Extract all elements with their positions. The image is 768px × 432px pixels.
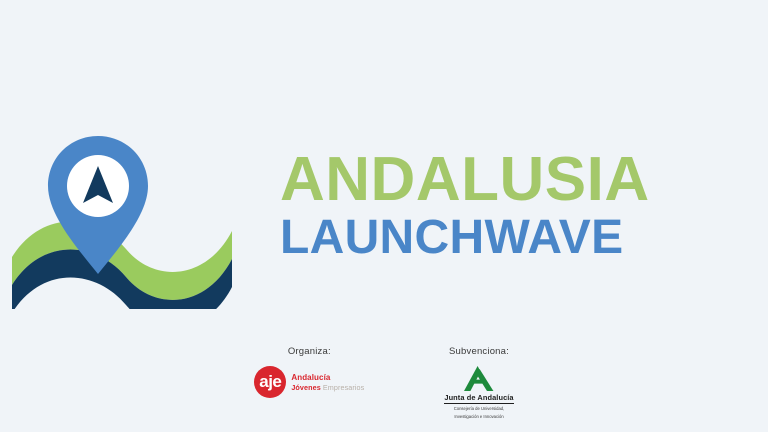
junta-sub-line1: Consejería de Universidad, [454,406,505,412]
junta-a-crossbar [473,380,487,384]
junta-de-andalucia-logo: Junta de Andalucía Consejería de Univers… [444,366,513,419]
sponsors-section: Organiza: aje Andalucía Jóvenes Empresar… [0,346,768,419]
map-pin-with-wave-icon [0,109,260,309]
hero-section: ANDALUSIA LAUNCHWAVE [0,104,768,314]
junta-sub-line2: Investigación e Innovación [454,414,503,420]
sponsor-subvenciona: Subvenciona: Junta de Andalucía Consejer… [444,346,513,419]
junta-a-mark-icon [464,366,494,391]
slide-canvas: ANDALUSIA LAUNCHWAVE Organiza: aje Andal… [0,0,768,432]
sponsor-label-subvenciona: Subvenciona: [449,346,509,357]
page-title-primary: ANDALUSIA [280,150,768,211]
aje-badge-label: aje [259,373,281,390]
junta-a-left-stroke [464,366,481,391]
aje-name-line1: Andalucía [291,373,364,383]
aje-name-line2: Jóvenes Empresarios [291,383,364,392]
aje-name-empresarios: Empresarios [323,383,364,392]
page-title-secondary: LAUNCHWAVE [280,213,768,264]
sponsor-organiza: Organiza: aje Andalucía Jóvenes Empresar… [254,346,364,398]
aje-andalucia-logo: aje Andalucía Jóvenes Empresarios [254,366,364,398]
wordmark: ANDALUSIA LAUNCHWAVE [260,150,768,264]
junta-name-label: Junta de Andalucía [444,393,513,404]
aje-wordmark: Andalucía Jóvenes Empresarios [291,373,364,392]
aje-badge-icon: aje [254,366,286,398]
aje-name-jovenes: Jóvenes [291,383,320,392]
sponsor-label-organiza: Organiza: [288,346,331,357]
brand-logo [0,109,260,309]
